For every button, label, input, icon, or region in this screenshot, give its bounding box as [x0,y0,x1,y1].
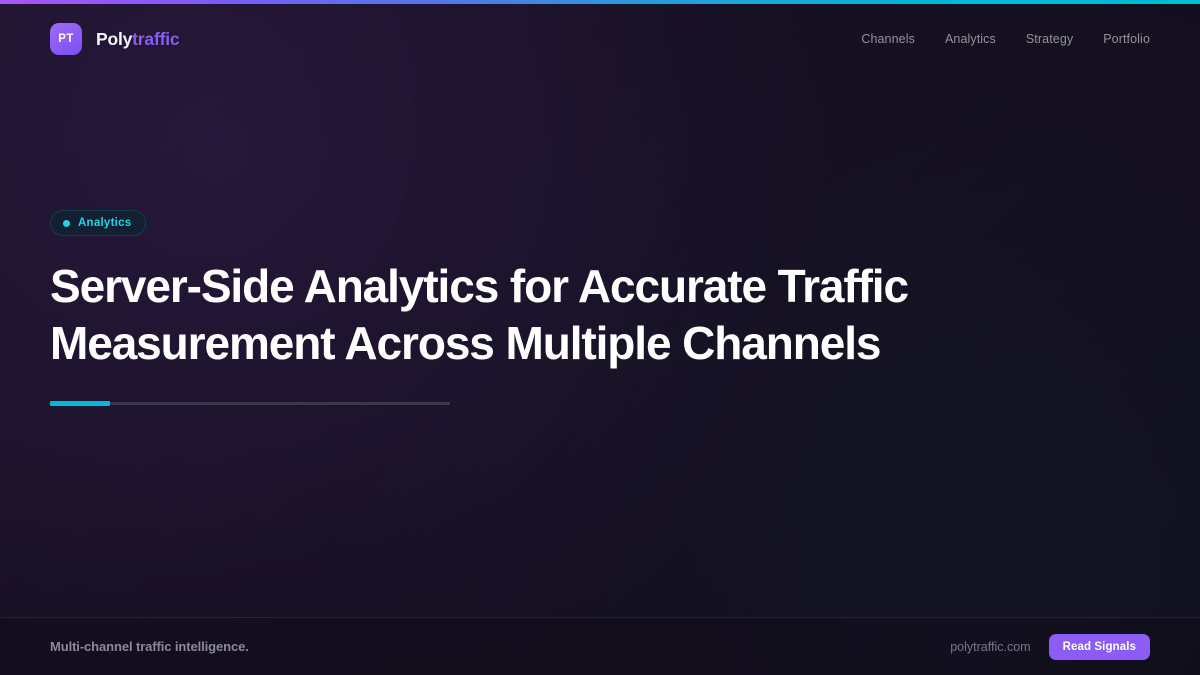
brand-name: Polytraffic [96,29,179,50]
main-nav: Channels Analytics Strategy Portfolio [861,32,1150,46]
footer-tagline: Multi-channel traffic intelligence. [50,639,249,654]
slide-root: PT Polytraffic Channels Analytics Strate… [0,0,1200,675]
top-accent-bar [0,0,1200,4]
brand-name-second: traffic [132,29,179,49]
status-dot-icon [63,220,70,227]
title-divider [50,402,450,405]
read-signals-button[interactable]: Read Signals [1049,634,1150,660]
badge-label: Analytics [78,217,131,229]
category-badge[interactable]: Analytics [50,210,146,236]
brand-name-first: Poly [96,29,132,49]
nav-item-strategy[interactable]: Strategy [1026,32,1073,46]
nav-item-channels[interactable]: Channels [861,32,915,46]
hero-section: Analytics Server-Side Analytics for Accu… [50,210,1050,405]
footer-url: polytraffic.com [950,640,1030,654]
nav-item-analytics[interactable]: Analytics [945,32,996,46]
page-title: Server-Side Analytics for Accurate Traff… [50,258,950,372]
footer-actions: polytraffic.com Read Signals [950,634,1150,660]
logo-mark-icon: PT [50,23,82,55]
site-header: PT Polytraffic Channels Analytics Strate… [0,4,1200,74]
brand-logo[interactable]: PT Polytraffic [50,23,179,55]
nav-item-portfolio[interactable]: Portfolio [1103,32,1150,46]
site-footer: Multi-channel traffic intelligence. poly… [0,617,1200,675]
